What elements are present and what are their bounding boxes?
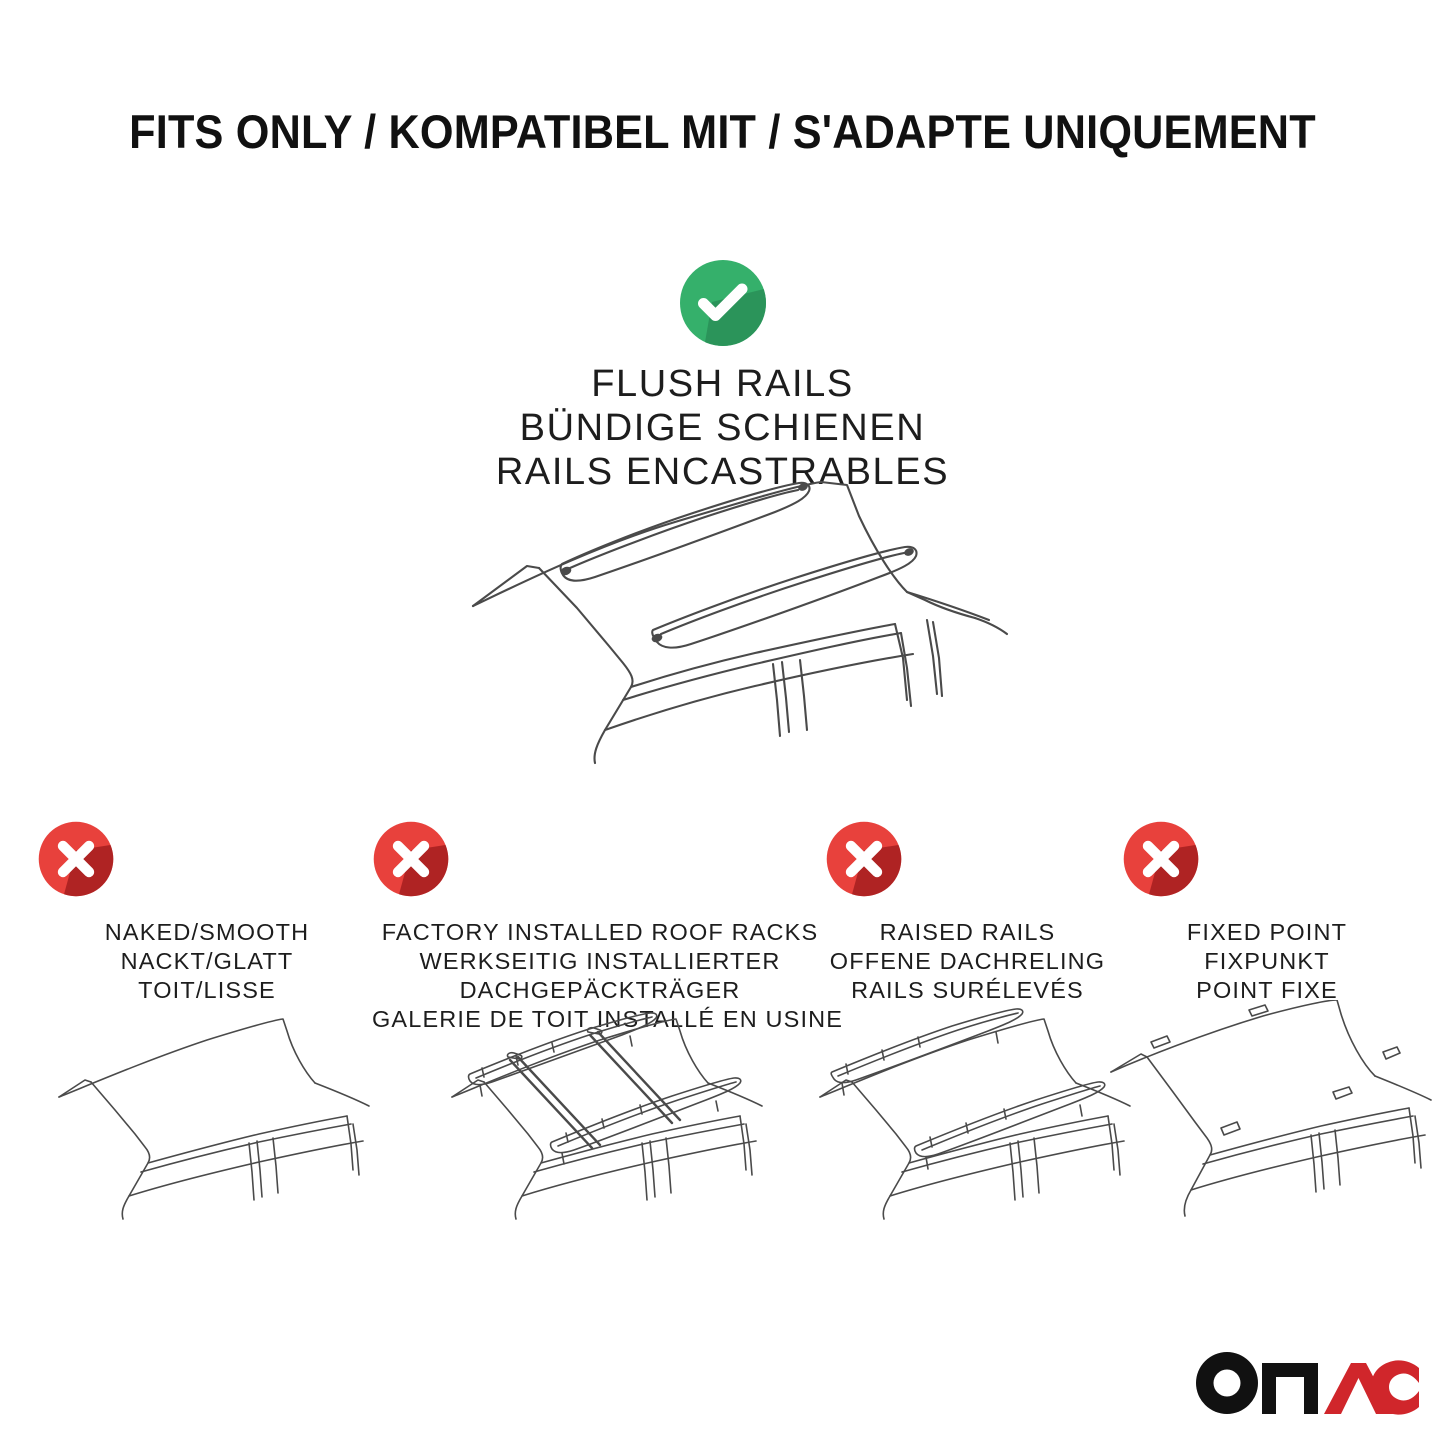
car-roof-fixed-point-illustration [1097,1000,1437,1230]
not-compatible-column-fixed-point: FIXED POINT FIXPUNKT POINT FIXE [1122,820,1412,1005]
car-roof-flush-rails-drawing [455,468,1015,768]
label-en: RAISED RAILS [825,918,1110,947]
compatible-label-de: BÜNDIGE SCHIENEN [0,406,1445,450]
label-en: FIXED POINT [1122,918,1412,947]
column-labels: NAKED/SMOOTH NACKT/GLATT TOIT/LISSE [37,918,377,1005]
label-de: NACKT/GLATT [37,947,377,976]
column-labels: FIXED POINT FIXPUNKT POINT FIXE [1122,918,1412,1005]
cross-circle-icon [37,820,115,898]
omac-logo-mark [1194,1347,1419,1419]
car-roof-factory-roof-racks-illustration [430,1000,770,1230]
cross-circle-icon [1122,820,1200,898]
page-title: FITS ONLY / KOMPATIBEL MIT / S'ADAPTE UN… [58,104,1387,159]
check-circle-icon [678,258,768,348]
label-en: FACTORY INSTALLED ROOF RACKS [372,918,828,947]
label-en: NAKED/SMOOTH [37,918,377,947]
not-compatible-column-factory-roof-racks: FACTORY INSTALLED ROOF RACKS WERKSEITIG … [372,820,828,1034]
car-roof-flush-rails-illustration [455,468,1015,768]
label-de: FIXPUNKT [1122,947,1412,976]
car-roof-raised-rails-drawing [798,1000,1138,1230]
cross-circle-icon [372,820,450,898]
not-compatible-column-raised-rails: RAISED RAILS OFFENE DACHRELING RAILS SUR… [825,820,1110,1005]
column-labels: RAISED RAILS OFFENE DACHRELING RAILS SUR… [825,918,1110,1005]
not-compatible-column-naked-smooth: NAKED/SMOOTH NACKT/GLATT TOIT/LISSE [37,820,377,1005]
label-de: OFFENE DACHRELING [825,947,1110,976]
omac-logo [1194,1347,1419,1419]
car-roof-fixed-point-drawing [1097,1000,1437,1230]
compatible-label-en: FLUSH RAILS [0,362,1445,406]
car-roof-raised-rails-illustration [798,1000,1138,1230]
not-compatible-section: NAKED/SMOOTH NACKT/GLATT TOIT/LISSE [0,820,1445,1260]
car-roof-naked-smooth-illustration [37,1000,377,1230]
car-roof-factory-roof-racks-drawing [430,1000,770,1230]
car-roof-naked-smooth-drawing [37,1000,377,1230]
cross-circle-icon [825,820,903,898]
compatible-section: FLUSH RAILS BÜNDIGE SCHIENEN RAILS ENCAS… [0,258,1445,494]
label-de-1: WERKSEITIG INSTALLIERTER [372,947,828,976]
